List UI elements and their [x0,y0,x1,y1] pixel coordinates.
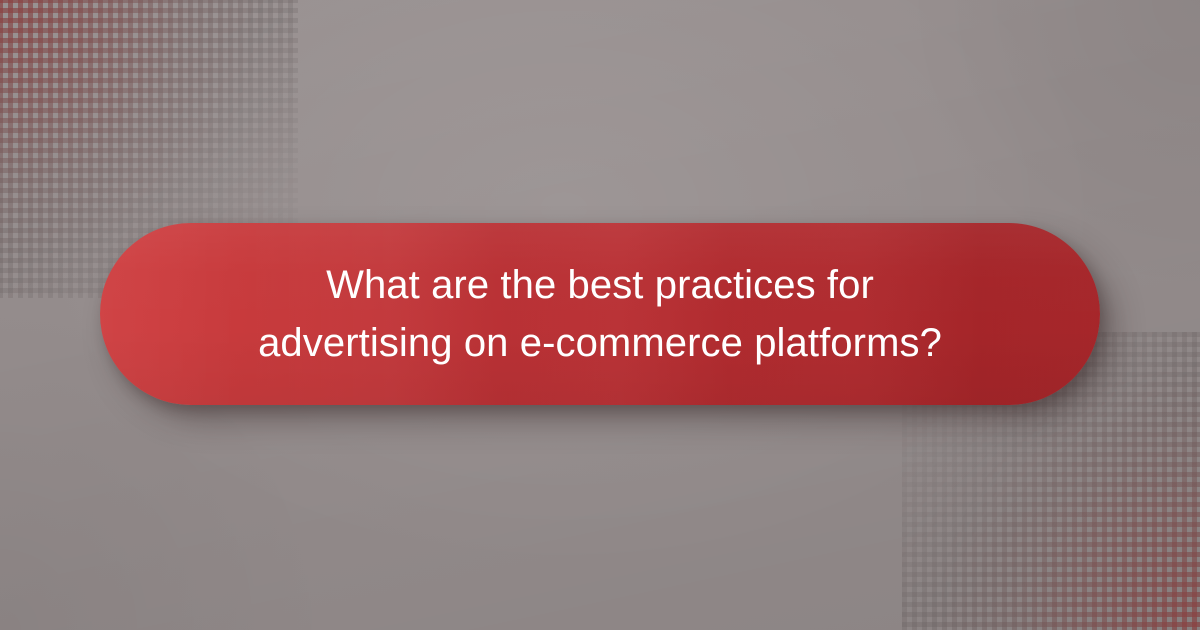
question-text: What are the best practices for advertis… [250,256,950,372]
question-card-canvas: What are the best practices for advertis… [0,0,1200,630]
question-pill-wrapper: What are the best practices for advertis… [100,223,1100,405]
question-pill[interactable]: What are the best practices for advertis… [100,223,1100,405]
